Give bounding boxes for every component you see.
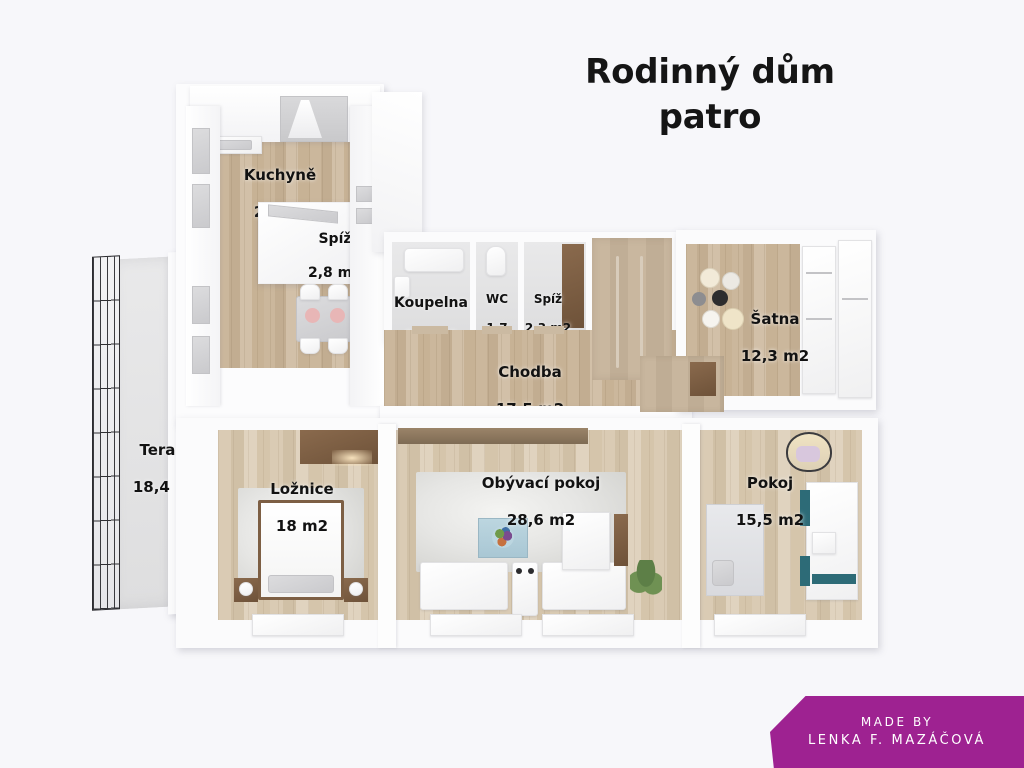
bedroom-window-sill [252,614,344,636]
sink-icon [394,276,410,298]
desk-mirror-icon [812,532,836,554]
table-lamp-icon [349,582,363,596]
window-icon [192,336,210,374]
wardrobe-handle-icon [640,256,643,368]
dining-chair [328,284,348,300]
floor-plan-canvas: Rodinný dům patro Terasa 18,4 m2 Kuchyně… [0,0,1024,768]
dining-chair [300,338,320,354]
wardrobe-shelf [842,298,868,300]
hat-decor-icon [722,308,744,330]
toilet-icon [486,246,506,276]
wardrobe-shelf [806,272,832,274]
pantry-door-panel [562,244,584,328]
window-icon [192,128,210,174]
door-threshold [412,326,448,334]
partition-wall [378,424,396,648]
terrace-railing [92,255,120,610]
media-cabinet [562,512,610,570]
bathtub-icon [404,248,464,272]
hanging-chair-cushion [796,446,820,462]
pokoj-pillow [712,560,734,586]
hat-decor-icon [712,290,728,306]
bookshelf-accent [800,556,810,586]
sofa-section [420,562,508,610]
dining-chair [328,338,348,354]
table-lamp-icon [239,582,253,596]
door-threshold [482,326,512,334]
stairwell-volume [372,92,422,252]
partition-wall [682,424,700,648]
hat-decor-icon [702,310,720,328]
wardrobe-unit [838,240,872,398]
decor-panel [614,514,628,566]
vestibule-door-icon [690,362,716,396]
wardrobe-unit [802,246,836,394]
hat-decor-icon [692,292,706,306]
table-plate-icon [305,308,320,323]
room-terasa[interactable] [112,256,174,609]
sofa-cushion-detail [516,568,522,574]
plant-icon [630,560,662,598]
wardrobe-handle-icon [616,256,619,368]
page-title: Rodinný dům patro [540,50,880,140]
sofa-cushion-detail [528,568,534,574]
livingroom-ceiling-beam [398,428,588,444]
table-plate-icon [330,308,345,323]
title-line-1: Rodinný dům [540,50,880,95]
dining-chair [300,284,320,300]
pokoj-window-sill [714,614,806,636]
hat-decor-icon [700,268,720,288]
living-window-sill [430,614,522,636]
hat-decor-icon [722,272,740,290]
made-by-watermark: MADE BY LENKA F. MAZÁČOVÁ [770,696,1024,768]
window-icon [192,184,210,228]
door-threshold [534,326,564,334]
bedroom-lamp-glow [332,450,372,466]
wardrobe-shelf [806,318,832,320]
watermark-line-1: MADE BY [861,713,933,732]
bed-pillows [268,575,334,593]
watermark-line-2: LENKA F. MAZÁČOVÁ [808,731,986,751]
bookshelf-accent [800,490,810,526]
bookshelf-accent [812,574,856,584]
artwork-flowers-icon [492,526,514,548]
living-window-sill [542,614,634,636]
title-line-2: patro [540,95,880,140]
window-icon [192,286,210,324]
dining-table [296,296,354,342]
